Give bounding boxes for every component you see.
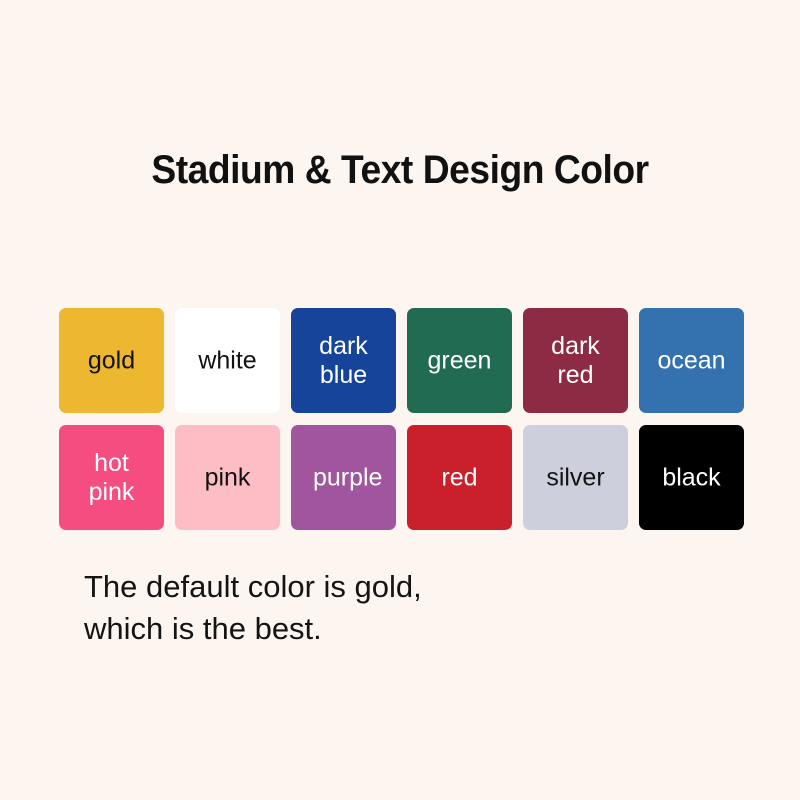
color-swatch-label: black <box>633 463 751 492</box>
color-swatch-grid: goldwhitedark bluegreendark redoceanhot … <box>59 308 749 542</box>
color-swatch-gold[interactable]: gold <box>59 308 164 413</box>
color-options-infographic: Stadium & Text Design Color goldwhitedar… <box>0 0 800 800</box>
color-swatch-label: white <box>169 346 287 375</box>
color-swatch-green[interactable]: green <box>407 308 512 413</box>
color-swatch-label: gold <box>53 346 171 375</box>
color-swatch-pink[interactable]: pink <box>175 425 280 530</box>
color-swatch-row: hot pinkpinkpurpleredsilverblack <box>59 425 749 530</box>
color-swatch-hot-pink[interactable]: hot pink <box>59 425 164 530</box>
color-swatch-row: goldwhitedark bluegreendark redocean <box>59 308 749 413</box>
color-swatch-dark-red[interactable]: dark red <box>523 308 628 413</box>
color-swatch-black[interactable]: black <box>639 425 744 530</box>
color-swatch-white[interactable]: white <box>175 308 280 413</box>
color-swatch-label: hot pink <box>53 449 171 507</box>
color-swatch-silver[interactable]: silver <box>523 425 628 530</box>
color-swatch-label: silver <box>517 463 635 492</box>
color-swatch-label: ocean <box>636 346 748 375</box>
color-swatch-label: dark blue <box>285 332 403 390</box>
color-swatch-purple[interactable]: purple <box>291 425 396 530</box>
page-title: Stadium & Text Design Color <box>28 148 772 193</box>
color-swatch-dark-blue[interactable]: dark blue <box>291 308 396 413</box>
color-swatch-label: dark red <box>517 332 635 390</box>
color-swatch-red[interactable]: red <box>407 425 512 530</box>
color-swatch-label: pink <box>169 463 287 492</box>
color-swatch-label: purple <box>282 463 414 492</box>
color-swatch-label: red <box>401 463 519 492</box>
color-swatch-label: green <box>401 346 519 375</box>
default-color-note: The default color is gold, which is the … <box>84 566 422 650</box>
color-swatch-ocean[interactable]: ocean <box>639 308 744 413</box>
